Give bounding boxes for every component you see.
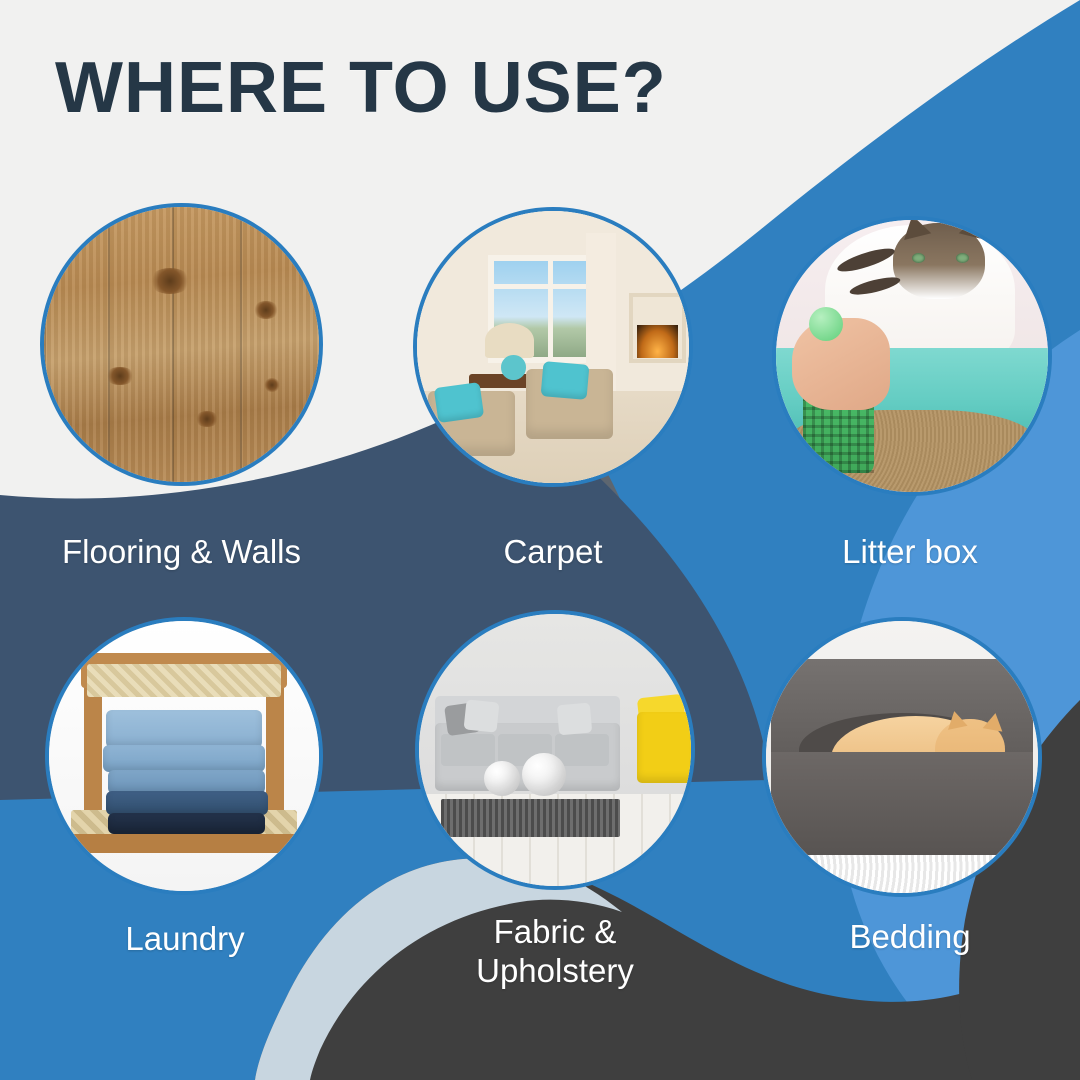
caption-laundry: Laundry	[20, 920, 350, 959]
page-title: WHERE TO USE?	[55, 52, 667, 124]
fabric-upholstery-artwork	[419, 614, 691, 886]
litter-box-artwork	[776, 220, 1048, 492]
image-circle-carpet[interactable]	[413, 207, 693, 487]
image-circle-fabric-upholstery[interactable]	[415, 610, 695, 890]
caption-carpet: Carpet	[390, 533, 716, 572]
image-circle-litter-box[interactable]	[772, 216, 1052, 496]
caption-bedding: Bedding	[755, 918, 1065, 957]
caption-flooring-walls: Flooring & Walls	[15, 533, 348, 572]
image-circle-bedding[interactable]	[762, 617, 1042, 897]
caption-litter-box: Litter box	[760, 533, 1060, 572]
image-circle-laundry[interactable]	[45, 617, 323, 895]
laundry-artwork	[49, 621, 319, 891]
image-circle-flooring-walls[interactable]	[40, 203, 323, 486]
living-room-artwork	[417, 211, 689, 483]
bedding-artwork	[766, 621, 1038, 893]
wood-plank-artwork	[44, 207, 319, 482]
caption-fabric-upholstery: Fabric & Upholstery	[390, 913, 720, 991]
infographic-canvas: WHERE TO USE? Flooring & Walls	[0, 0, 1080, 1080]
